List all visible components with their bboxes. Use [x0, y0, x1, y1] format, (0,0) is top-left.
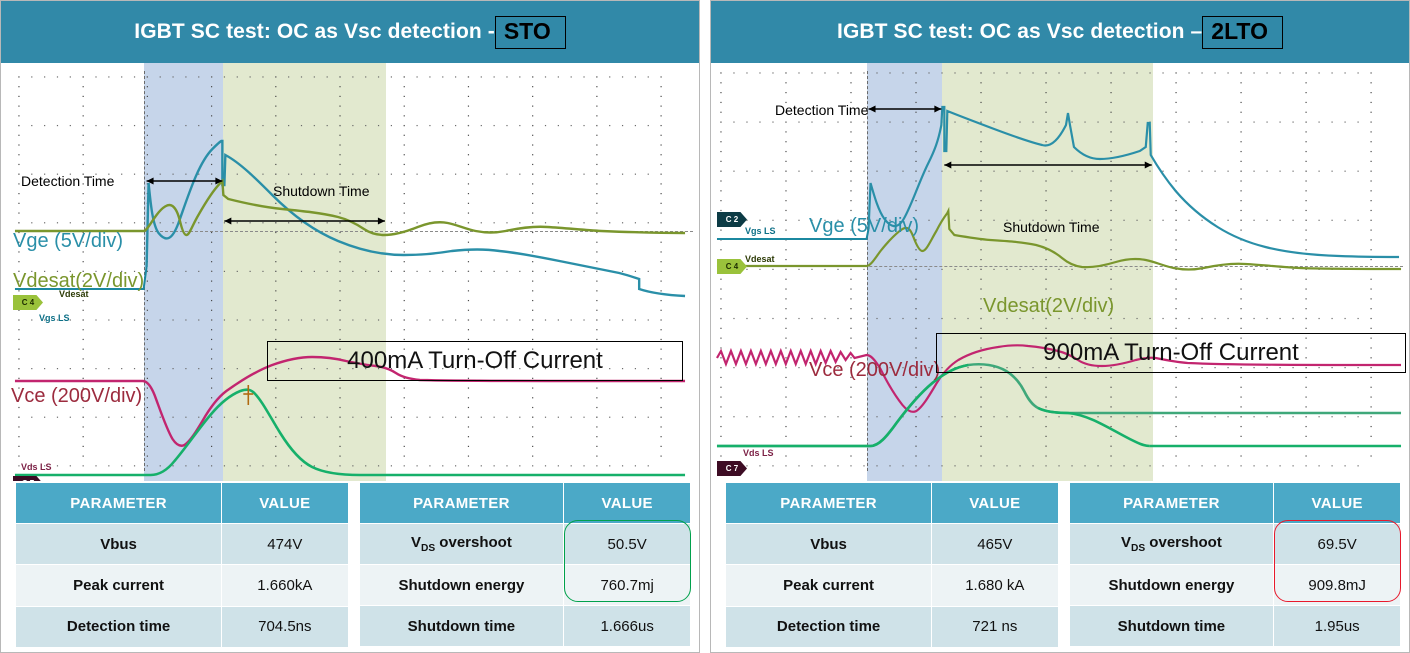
cell-param: Vbus — [726, 524, 932, 565]
cell-value: 465V — [932, 524, 1058, 565]
cell-value: 50.5V — [564, 524, 691, 565]
panel-sto-title: IGBT SC test: OC as Vsc detection - — [134, 20, 495, 44]
cell-value: 474V — [222, 524, 348, 565]
panel-sto: IGBT SC test: OC as Vsc detection - STO — [0, 0, 700, 653]
tables-2lto: PARAMETER VALUE Vbus 465V Peak current 1… — [711, 482, 1409, 652]
vdesat-trace-label: Vdesat(2V/div) — [983, 295, 1114, 318]
channel-marker-c4-label: Vdesat — [745, 254, 775, 264]
turn-off-current-callout: 400mA Turn-Off Current — [267, 341, 683, 381]
turn-off-current-callout: 900mA Turn-Off Current — [936, 333, 1406, 373]
vgs-ls-label: Vgs LS — [39, 313, 70, 323]
col-header-value: VALUE — [222, 483, 348, 524]
tables-sto: PARAMETER VALUE Vbus 474V Peak current 1… — [1, 482, 699, 652]
col-header-value: VALUE — [564, 483, 691, 524]
channel-marker-c4-label: Vdesat — [59, 289, 89, 299]
cell-param: Shutdown time — [359, 606, 564, 647]
scope-2lto: Detection Time Shutdown Time Vge (5V/div… — [711, 63, 1409, 481]
cell-value-shutdown-energy: 760.7mj — [564, 565, 691, 606]
panel-2lto-titlebar: IGBT SC test: OC as Vsc detection – 2LTO — [711, 1, 1409, 63]
cell-value: 1.660kA — [222, 565, 348, 606]
slide-root: IGBT SC test: OC as Vsc detection - STO — [0, 0, 1410, 653]
table-row: Detection time 721 ns — [726, 606, 1059, 647]
panel-sto-title-badge: STO — [495, 16, 566, 49]
cell-param-vds-overshoot: VDS overshoot — [359, 524, 564, 565]
table-row: Shutdown time 1.666us — [359, 606, 691, 647]
table-row: Shutdown energy 909.8mJ — [1069, 565, 1401, 606]
vge-trace-label: Vge (5V/div) — [13, 230, 123, 253]
channel-marker-c7-label: Vds LS — [21, 462, 52, 472]
cell-value-shutdown-time: 1.666us — [564, 606, 691, 647]
cell-param: Shutdown energy — [1069, 565, 1274, 606]
scope-sto: Detection Time Shutdown Time Vge (5V/div… — [1, 63, 699, 481]
cell-param: Shutdown energy — [359, 565, 564, 606]
col-header-value: VALUE — [932, 483, 1058, 524]
channel-marker-c2-label: Vgs LS — [745, 226, 776, 236]
table-row: VDS overshoot 69.5V — [1069, 524, 1401, 565]
vce-trace-label: Vce (200V/div) — [809, 359, 940, 382]
cell-param: Peak current — [726, 565, 932, 606]
cell-value: 1.680 kA — [932, 565, 1058, 606]
parameter-table-left-sto: PARAMETER VALUE Vbus 474V Peak current 1… — [15, 482, 349, 648]
table-row: Vbus 474V — [16, 524, 349, 565]
channel-marker-c7-label: Vds LS — [743, 448, 774, 458]
cell-param: Vbus — [16, 524, 222, 565]
cell-param: Detection time — [16, 606, 222, 647]
panel-sto-titlebar: IGBT SC test: OC as Vsc detection - STO — [1, 1, 699, 63]
col-header-parameter: PARAMETER — [359, 483, 564, 524]
detection-time-label: Detection Time — [21, 173, 114, 189]
scope-traces — [711, 63, 1409, 481]
table-row: VDS overshoot 50.5V — [359, 524, 691, 565]
cell-param: Peak current — [16, 565, 222, 606]
shutdown-time-label: Shutdown Time — [1003, 219, 1100, 235]
table-row: Shutdown time 1.95us — [1069, 606, 1401, 647]
cell-param: Detection time — [726, 606, 932, 647]
vce-trace-label: Vce (200V/div) — [11, 385, 142, 408]
col-header-parameter: PARAMETER — [1069, 483, 1274, 524]
parameter-table-left-2lto: PARAMETER VALUE Vbus 465V Peak current 1… — [725, 482, 1059, 648]
cell-value-shutdown-time: 1.95us — [1274, 606, 1401, 647]
table-row: Vbus 465V — [726, 524, 1059, 565]
table-row: Detection time 704.5ns — [16, 606, 349, 647]
panel-2lto: IGBT SC test: OC as Vsc detection – 2LTO — [710, 0, 1410, 653]
col-header-parameter: PARAMETER — [16, 483, 222, 524]
panel-2lto-title-badge: 2LTO — [1202, 16, 1283, 49]
col-header-parameter: PARAMETER — [726, 483, 932, 524]
vge-trace-label: Vge (5V/div) — [809, 215, 919, 238]
cell-param-vds-overshoot: VDS overshoot — [1069, 524, 1274, 565]
cell-param: Shutdown time — [1069, 606, 1274, 647]
panel-2lto-title: IGBT SC test: OC as Vsc detection – — [837, 20, 1202, 44]
shutdown-time-label: Shutdown Time — [273, 183, 370, 199]
table-row: Shutdown energy 760.7mj — [359, 565, 691, 606]
parameter-table-right-sto: PARAMETER VALUE VDS overshoot 50.5V Shut… — [359, 482, 692, 647]
cell-value-shutdown-energy: 909.8mJ — [1274, 565, 1401, 606]
parameter-table-right-2lto: PARAMETER VALUE VDS overshoot 69.5V Shut… — [1069, 482, 1402, 647]
cell-value: 721 ns — [932, 606, 1058, 647]
col-header-value: VALUE — [1274, 483, 1401, 524]
detection-time-label: Detection Time — [775, 102, 868, 118]
cell-value: 704.5ns — [222, 606, 348, 647]
table-row: Peak current 1.660kA — [16, 565, 349, 606]
table-row: Peak current 1.680 kA — [726, 565, 1059, 606]
cell-value: 69.5V — [1274, 524, 1401, 565]
